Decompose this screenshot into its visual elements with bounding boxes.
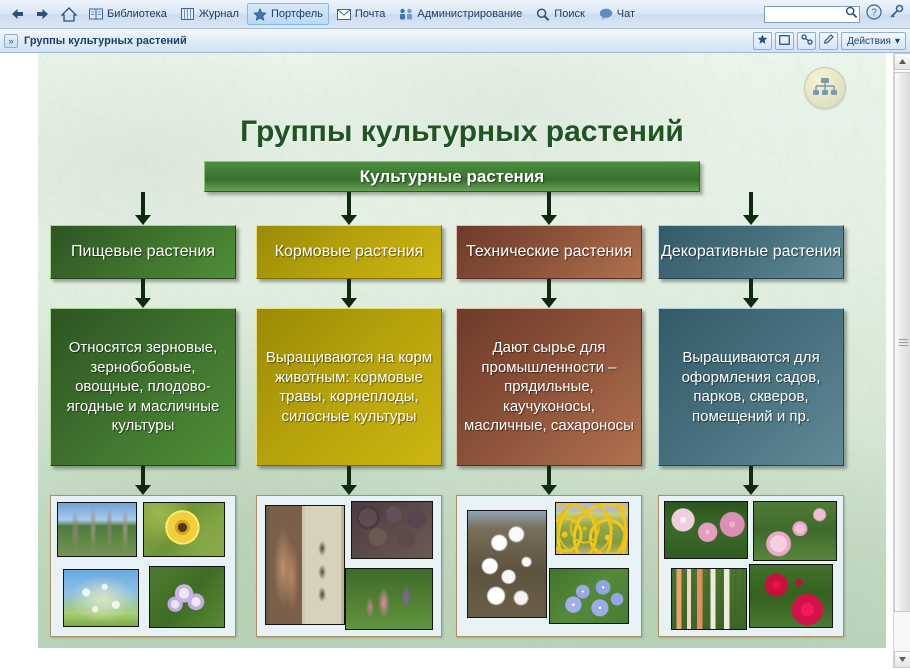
book-icon xyxy=(89,7,103,21)
toolbar-item-label: Поиск xyxy=(554,8,584,20)
content-area: Группы культурных растений Культурные ра… xyxy=(0,53,910,668)
photo-sunflower-field xyxy=(555,502,629,555)
photo-orchard-field xyxy=(57,502,137,557)
root-node: Культурные растения xyxy=(204,161,700,192)
envelope-icon xyxy=(337,7,351,21)
photo-panel xyxy=(456,495,642,637)
arrow-category-to-description xyxy=(547,279,551,299)
link-button[interactable] xyxy=(797,32,816,50)
toolbar-item-library[interactable]: Библиотека xyxy=(83,3,173,25)
arrow-description-to-photos xyxy=(749,466,753,486)
toolbar-item-administration[interactable]: Администрирование xyxy=(393,3,528,25)
photo-peonies xyxy=(753,501,837,561)
photo-potato-flowers xyxy=(149,566,225,628)
tab-title: Группы культурных растений xyxy=(24,35,187,47)
photo-cotton-field xyxy=(467,510,547,618)
description-box: Выращиваются для оформления садов, парко… xyxy=(658,308,844,466)
photo-roses xyxy=(749,564,833,628)
link-icon xyxy=(801,32,813,50)
description-box: Дают сырье для промышленности – прядильн… xyxy=(456,308,642,466)
forward-button[interactable] xyxy=(30,2,56,26)
description-box: Относятся зерновые, зернобобовые, овощны… xyxy=(50,308,236,466)
photo-panel xyxy=(50,495,236,637)
home-button[interactable] xyxy=(56,2,82,26)
magnifier-icon xyxy=(536,7,550,21)
toolbar-item-label: Портфель xyxy=(271,8,323,20)
photo-gladiolus xyxy=(671,568,747,630)
search-box[interactable] xyxy=(764,6,860,23)
category-box: Технические растения xyxy=(456,225,642,279)
search-input[interactable] xyxy=(765,8,845,22)
back-arrow-icon xyxy=(9,7,25,21)
help-button[interactable]: ? xyxy=(866,4,882,25)
back-button[interactable] xyxy=(4,2,30,26)
photo-panel xyxy=(658,495,844,637)
page-title: Группы культурных растений xyxy=(38,115,886,149)
chat-bubble-icon xyxy=(599,7,613,21)
arrow-category-to-description xyxy=(347,279,351,299)
toolbar-item-label: Почта xyxy=(355,8,386,20)
scrollbar-grip-icon xyxy=(899,339,908,346)
forward-arrow-icon xyxy=(35,7,51,21)
actions-menu-button[interactable]: Действия ▾ xyxy=(841,32,906,50)
arrow-description-to-photos xyxy=(347,466,351,486)
toolbar-item-label: Администрирование xyxy=(417,8,522,20)
scroll-up-button[interactable] xyxy=(894,53,910,70)
journal-icon xyxy=(181,7,195,21)
toolbar-right-group: ? xyxy=(764,0,904,29)
window-icon xyxy=(779,32,790,50)
arrow-root-to-category xyxy=(547,192,551,216)
category-box: Декоративные растения xyxy=(658,225,844,279)
search-icon[interactable] xyxy=(845,6,858,24)
edit-button[interactable] xyxy=(819,32,838,50)
toolbar-item-portfolio[interactable]: Портфель xyxy=(247,3,329,25)
scroll-down-button[interactable] xyxy=(894,651,910,668)
chevron-down-icon: ▾ xyxy=(895,36,900,47)
arrow-description-to-photos xyxy=(141,466,145,486)
scrollbar-thumb[interactable] xyxy=(894,72,910,612)
star-icon xyxy=(253,7,267,21)
arrow-root-to-category xyxy=(749,192,753,216)
toolbar-item-mail[interactable]: Почта xyxy=(331,3,392,25)
actions-label: Действия xyxy=(847,36,891,47)
photo-asters xyxy=(664,501,748,559)
category-box: Пищевые растения xyxy=(50,225,236,279)
photo-blossoming-tree xyxy=(63,569,139,627)
photo-sunflower xyxy=(143,502,225,557)
photo-flax-flowers xyxy=(549,568,629,624)
vertical-scrollbar[interactable] xyxy=(893,53,910,668)
description-box: Выращиваются на корм животным: кормовые … xyxy=(256,308,442,466)
photo-lupine xyxy=(345,568,433,630)
toolbar-item-search[interactable]: Поиск xyxy=(530,3,590,25)
arrow-category-to-description xyxy=(749,279,753,299)
arrow-category-to-description xyxy=(141,279,145,299)
users-icon xyxy=(399,7,413,21)
toolbar-item-label: Журнал xyxy=(199,8,239,20)
photo-panel xyxy=(256,495,442,637)
window-button[interactable] xyxy=(775,32,794,50)
tabbar-actions-group: Действия ▾ xyxy=(753,29,906,53)
scrollbar-track[interactable] xyxy=(894,70,910,651)
browser-toolbar: Библиотека Журнал Портфель Почта Админис… xyxy=(0,0,910,29)
toolbar-item-chat[interactable]: Чат xyxy=(593,3,641,25)
expand-chevron-icon[interactable]: » xyxy=(4,34,18,48)
tab-bar: » Группы культурных растений Действия ▾ xyxy=(0,29,910,53)
toolbar-item-label: Библиотека xyxy=(107,8,167,20)
home-icon xyxy=(61,7,77,22)
category-box: Кормовые растения xyxy=(256,225,442,279)
presentation-slide: Группы культурных растений Культурные ра… xyxy=(38,53,886,648)
arrow-root-to-category xyxy=(347,192,351,216)
arrow-description-to-photos xyxy=(547,466,551,486)
photo-bean-pods xyxy=(265,505,345,625)
toolbar-item-journal[interactable]: Журнал xyxy=(175,3,245,25)
photo-turnips xyxy=(351,501,433,559)
svg-text:?: ? xyxy=(871,8,877,19)
hierarchy-diagram-icon xyxy=(804,67,846,109)
pencil-icon xyxy=(823,32,835,50)
key-icon[interactable] xyxy=(888,4,904,25)
arrow-root-to-category xyxy=(141,192,145,216)
star-icon xyxy=(757,32,768,50)
toolbar-item-label: Чат xyxy=(617,8,635,20)
favorite-button[interactable] xyxy=(753,32,772,50)
